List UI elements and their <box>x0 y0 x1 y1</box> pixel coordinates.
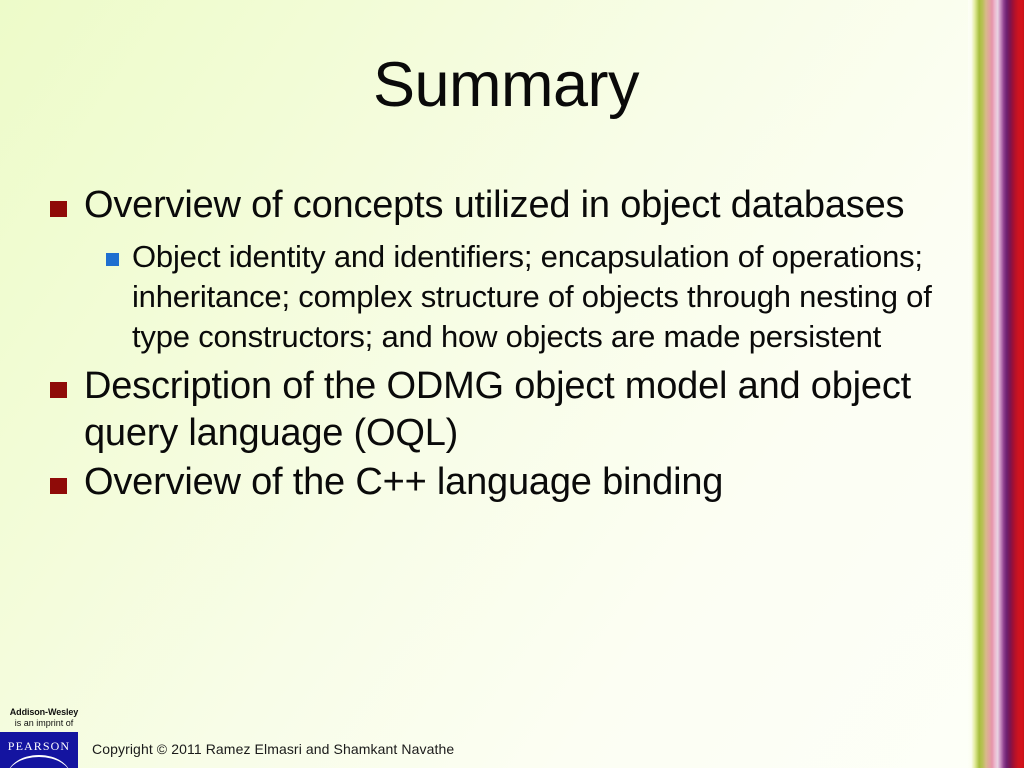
slide: Summary Overview of concepts utilized in… <box>0 0 1024 768</box>
imprint-brand: Addison-Wesley <box>0 707 88 718</box>
bullet-list: Overview of concepts utilized in object … <box>50 182 975 508</box>
pearson-wordmark: PEARSON <box>0 739 78 754</box>
bullet-text: Description of the ODMG object model and… <box>84 363 964 457</box>
bullet-text: Overview of the C++ language binding <box>84 459 723 506</box>
imprint-text: Addison-Wesley is an imprint of <box>0 707 88 732</box>
copyright-notice: Copyright © 2011 Ramez Elmasri and Shamk… <box>92 741 454 757</box>
slide-title: Summary <box>0 52 1024 118</box>
slide-title-text: Summary <box>373 52 651 118</box>
pearson-logo-box: PEARSON <box>0 732 78 768</box>
sub-bullet-text: Object identity and identifiers; encapsu… <box>132 237 962 357</box>
sub-bullet-item: Object identity and identifiers; encapsu… <box>106 237 975 357</box>
square-sub-bullet-icon <box>106 253 119 266</box>
imprint-caption: is an imprint of <box>0 718 88 729</box>
bullet-item: Description of the ODMG object model and… <box>50 363 975 457</box>
square-bullet-icon <box>50 382 67 398</box>
publisher-logo: Addison-Wesley is an imprint of PEARSON <box>0 707 96 768</box>
bullet-item: Overview of concepts utilized in object … <box>50 182 975 229</box>
square-bullet-icon <box>50 201 67 217</box>
bullet-text: Overview of concepts utilized in object … <box>84 182 904 229</box>
bullet-item: Overview of the C++ language binding <box>50 459 975 506</box>
square-bullet-icon <box>50 478 67 494</box>
pearson-arc-icon <box>7 755 71 768</box>
